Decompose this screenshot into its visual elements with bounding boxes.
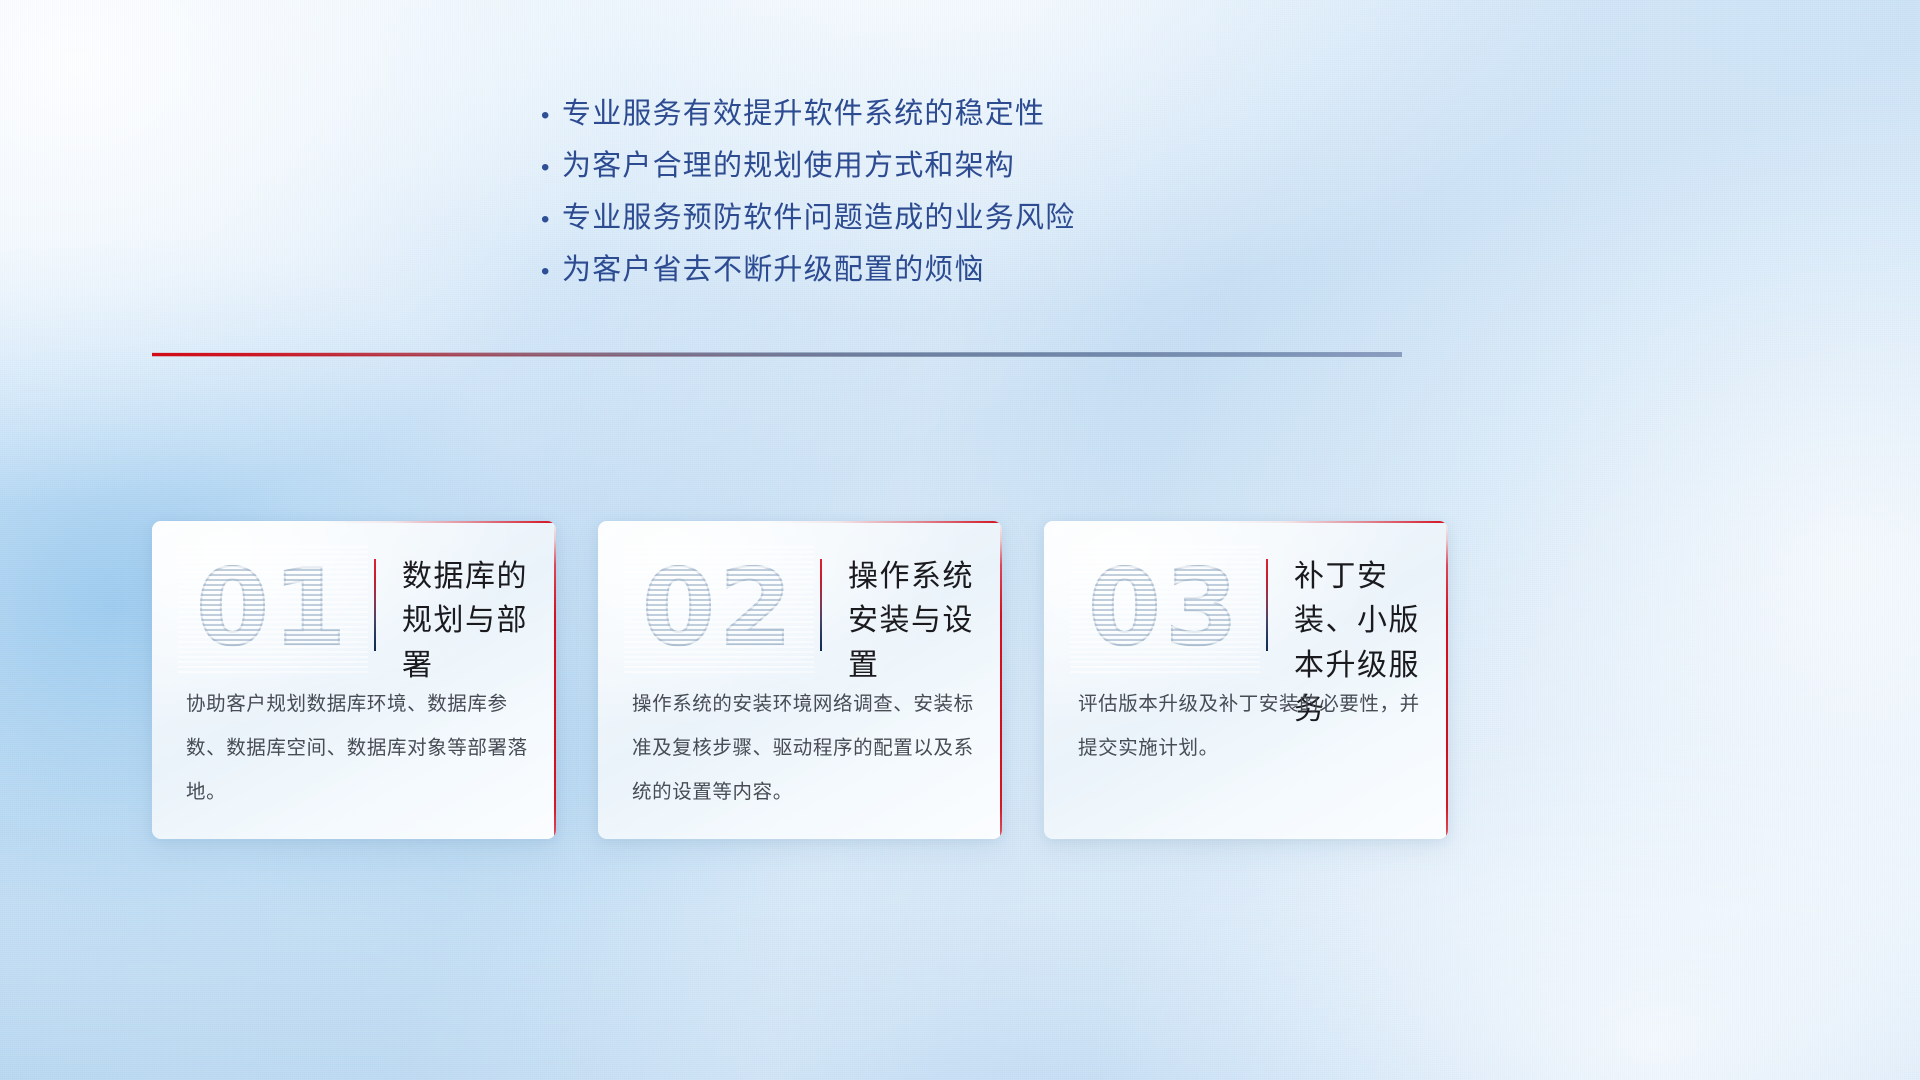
bullet-marker-icon: • <box>536 156 562 180</box>
bullet-item: • 为客户省去不断升级配置的烦恼 <box>536 246 1256 298</box>
divider-hairline <box>152 355 1402 356</box>
service-card-row: 01 数据库的规划与部署 协助客户规划数据库环境、数据库参数、数据库空间、数据库… <box>152 521 1452 841</box>
card-watermark-number: 02 <box>624 543 814 673</box>
card-title-rule <box>1266 559 1268 651</box>
card-description: 协助客户规划数据库环境、数据库参数、数据库空间、数据库对象等部署落地。 <box>186 683 530 815</box>
service-card-03[interactable]: 03 补丁安装、小版本升级服务 评估版本升级及补丁安装的必要性，并提交实施计划。 <box>1044 521 1448 839</box>
card-number-text: 02 <box>642 556 796 661</box>
card-watermark-stripes <box>1070 543 1260 673</box>
card-watermark-number: 01 <box>178 543 368 673</box>
bullet-item-label: 专业服务预防软件问题造成的业务风险 <box>562 194 1075 236</box>
card-number-text: 03 <box>1088 556 1242 661</box>
slide-canvas: • 专业服务有效提升软件系统的稳定性 • 为客户合理的规划使用方式和架构 • 专… <box>0 0 1920 1080</box>
bullet-item-label: 为客户省去不断升级配置的烦恼 <box>562 246 985 288</box>
bullet-marker-icon: • <box>536 208 562 232</box>
card-accent-top-edge <box>322 521 556 523</box>
card-accent-bar <box>554 521 557 839</box>
card-watermark-number: 03 <box>1070 543 1260 673</box>
bullet-marker-icon: • <box>536 260 562 284</box>
bullet-item: • 专业服务有效提升软件系统的稳定性 <box>536 90 1256 142</box>
card-accent-top-edge <box>768 521 1002 523</box>
bullet-item: • 为客户合理的规划使用方式和架构 <box>536 142 1256 194</box>
bullet-item-label: 为客户合理的规划使用方式和架构 <box>562 142 1015 184</box>
card-number-text: 01 <box>196 556 350 661</box>
service-card-01[interactable]: 01 数据库的规划与部署 协助客户规划数据库环境、数据库参数、数据库空间、数据库… <box>152 521 556 839</box>
bullet-item: • 专业服务预防软件问题造成的业务风险 <box>536 194 1256 246</box>
benefits-bullet-list: • 专业服务有效提升软件系统的稳定性 • 为客户合理的规划使用方式和架构 • 专… <box>536 90 1256 298</box>
card-title-rule <box>820 559 822 651</box>
section-divider <box>152 349 1402 361</box>
card-accent-bar <box>1446 521 1449 839</box>
service-card-02[interactable]: 02 操作系统安装与设置 操作系统的安装环境网络调查、安装标准及复核步骤、驱动程… <box>598 521 1002 839</box>
card-watermark-stripes <box>624 543 814 673</box>
card-accent-bar <box>1000 521 1003 839</box>
card-description: 操作系统的安装环境网络调查、安装标准及复核步骤、驱动程序的配置以及系统的设置等内… <box>632 683 976 815</box>
card-accent-top-edge <box>1214 521 1448 523</box>
card-header: 操作系统安装与设置 <box>820 555 982 688</box>
card-title: 操作系统安装与设置 <box>848 555 982 688</box>
card-header: 数据库的规划与部署 <box>374 555 536 688</box>
bullet-marker-icon: • <box>536 104 562 128</box>
card-description: 评估版本升级及补丁安装的必要性，并提交实施计划。 <box>1078 683 1422 771</box>
bullet-item-label: 专业服务有效提升软件系统的稳定性 <box>562 90 1045 132</box>
card-watermark-stripes <box>178 543 368 673</box>
card-title: 数据库的规划与部署 <box>402 555 536 688</box>
card-title-rule <box>374 559 376 651</box>
